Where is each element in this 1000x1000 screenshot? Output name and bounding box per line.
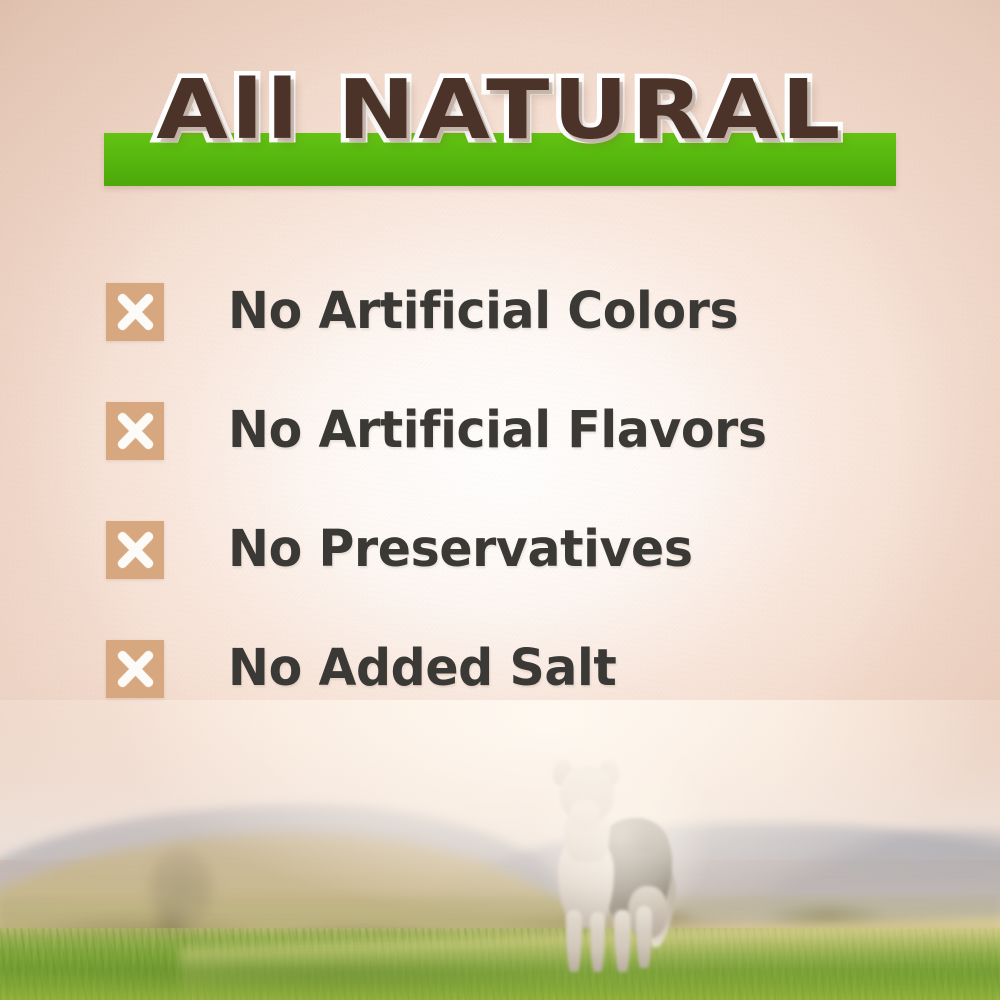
dog-leg-front-right	[590, 912, 605, 972]
x-mark-icon	[106, 521, 164, 579]
grass-foreground-band	[0, 936, 1000, 1000]
list-item: No Artificial Flavors	[106, 371, 906, 490]
x-mark-icon	[106, 640, 164, 698]
dog-leg-front-left	[566, 910, 582, 972]
x-mark-icon	[106, 402, 164, 460]
page-title: All NATURAL	[0, 70, 1000, 152]
x-mark-icon	[106, 283, 164, 341]
claims-list: No Artificial Colors No Artificial Flavo…	[106, 252, 906, 728]
list-item: No Preservatives	[106, 490, 906, 609]
border-collie-dog	[536, 760, 716, 975]
list-item: No Added Salt	[106, 609, 906, 728]
list-item: No Artificial Colors	[106, 252, 906, 371]
claim-label: No Artificial Flavors	[228, 405, 767, 456]
dog-leg-rear-right	[636, 906, 652, 968]
claim-label: No Artificial Colors	[228, 286, 738, 337]
claim-label: No Preservatives	[228, 524, 693, 575]
claim-label: No Added Salt	[228, 643, 616, 694]
dog-leg-rear-left	[614, 910, 631, 972]
all-natural-poster: All NATURAL No Artificial Colors No Arti…	[0, 0, 1000, 1000]
landscape-photo	[0, 700, 1000, 1000]
